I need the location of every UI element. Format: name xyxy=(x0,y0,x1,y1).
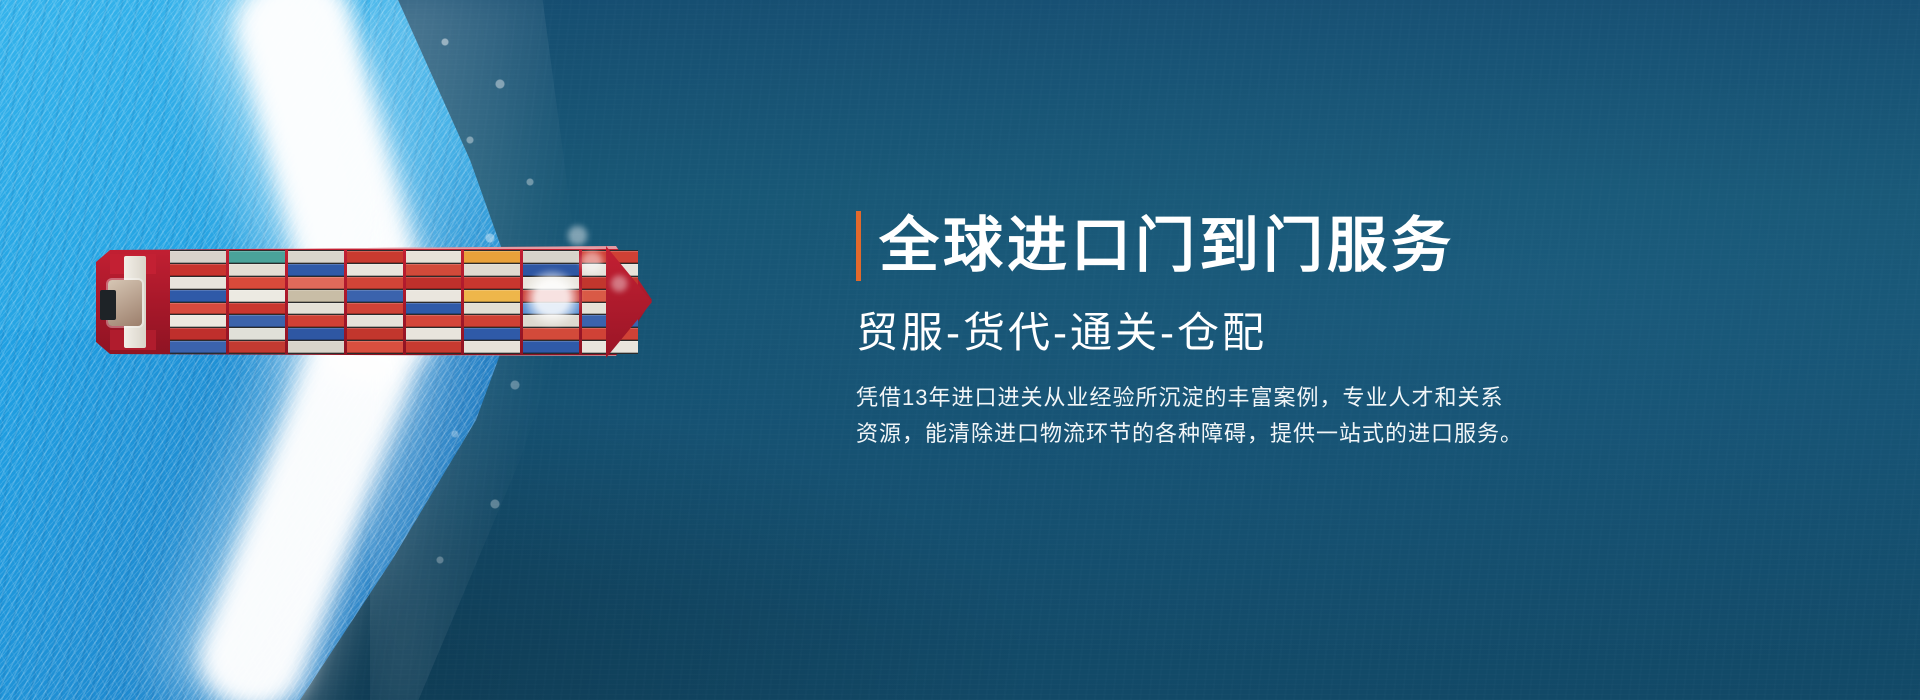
shipping-container xyxy=(229,290,285,302)
cargo-bay xyxy=(288,250,344,354)
shipping-container xyxy=(288,315,344,327)
shipping-container xyxy=(464,315,520,327)
cargo-bay xyxy=(464,250,520,354)
description-line-1: 凭借13年进口进关从业经验所沉淀的丰富案例，专业人才和关系 xyxy=(856,380,1556,416)
shipping-container xyxy=(523,341,579,353)
subtitle: 贸服-货代-通关-仓配 xyxy=(856,310,1616,356)
hero-banner: 全球进口门到门服务 贸服-货代-通关-仓配 凭借13年进口进关从业经验所沉淀的丰… xyxy=(0,0,1920,700)
shipping-container xyxy=(229,341,285,353)
description-line-2: 资源，能清除进口物流环节的各种障碍，提供一站式的进口服务。 xyxy=(856,416,1556,452)
shipping-container xyxy=(229,303,285,315)
shipping-container xyxy=(406,277,462,289)
shipping-container xyxy=(347,264,403,276)
description: 凭借13年进口进关从业经验所沉淀的丰富案例，专业人才和关系 资源，能清除进口物流… xyxy=(856,380,1556,451)
shipping-container xyxy=(170,290,226,302)
shipping-container xyxy=(347,328,403,340)
cargo-bay xyxy=(347,250,403,354)
shipping-container xyxy=(288,303,344,315)
shipping-container xyxy=(288,277,344,289)
shipping-container xyxy=(170,315,226,327)
shipping-container xyxy=(170,303,226,315)
cargo-bay xyxy=(229,250,285,354)
cargo-bay xyxy=(170,250,226,354)
shipping-container xyxy=(288,290,344,302)
shipping-container xyxy=(170,328,226,340)
shipping-container xyxy=(229,328,285,340)
accent-bar xyxy=(856,211,861,281)
shipping-container xyxy=(464,251,520,263)
shipping-container xyxy=(229,251,285,263)
shipping-container xyxy=(347,290,403,302)
shipping-container xyxy=(229,264,285,276)
shipping-container xyxy=(464,290,520,302)
shipping-container xyxy=(347,251,403,263)
shipping-container xyxy=(406,328,462,340)
shipping-container xyxy=(347,277,403,289)
shipping-container xyxy=(406,315,462,327)
shipping-container xyxy=(347,303,403,315)
bow-spray xyxy=(520,214,680,334)
shipping-container xyxy=(464,328,520,340)
shipping-container xyxy=(229,315,285,327)
shipping-container xyxy=(288,341,344,353)
shipping-container xyxy=(347,315,403,327)
shipping-container xyxy=(406,251,462,263)
shipping-container xyxy=(170,251,226,263)
shipping-container xyxy=(288,328,344,340)
ship-stern-superstructure xyxy=(102,254,166,350)
stern-funnel xyxy=(100,290,116,320)
shipping-container xyxy=(170,341,226,353)
banner-content: 全球进口门到门服务 贸服-货代-通关-仓配 凭借13年进口进关从业经验所沉淀的丰… xyxy=(856,206,1616,451)
shipping-container xyxy=(406,303,462,315)
shipping-container xyxy=(406,290,462,302)
shipping-container xyxy=(464,264,520,276)
shipping-container xyxy=(406,264,462,276)
headline-row: 全球进口门到门服务 xyxy=(856,206,1616,286)
shipping-container xyxy=(464,277,520,289)
shipping-container xyxy=(170,277,226,289)
page-title: 全球进口门到门服务 xyxy=(879,216,1455,276)
shipping-container xyxy=(170,264,226,276)
shipping-container xyxy=(406,341,462,353)
shipping-container xyxy=(288,251,344,263)
shipping-container xyxy=(288,264,344,276)
cargo-bay xyxy=(406,250,462,354)
shipping-container xyxy=(464,341,520,353)
shipping-container xyxy=(347,341,403,353)
shipping-container xyxy=(229,277,285,289)
shipping-container xyxy=(464,303,520,315)
